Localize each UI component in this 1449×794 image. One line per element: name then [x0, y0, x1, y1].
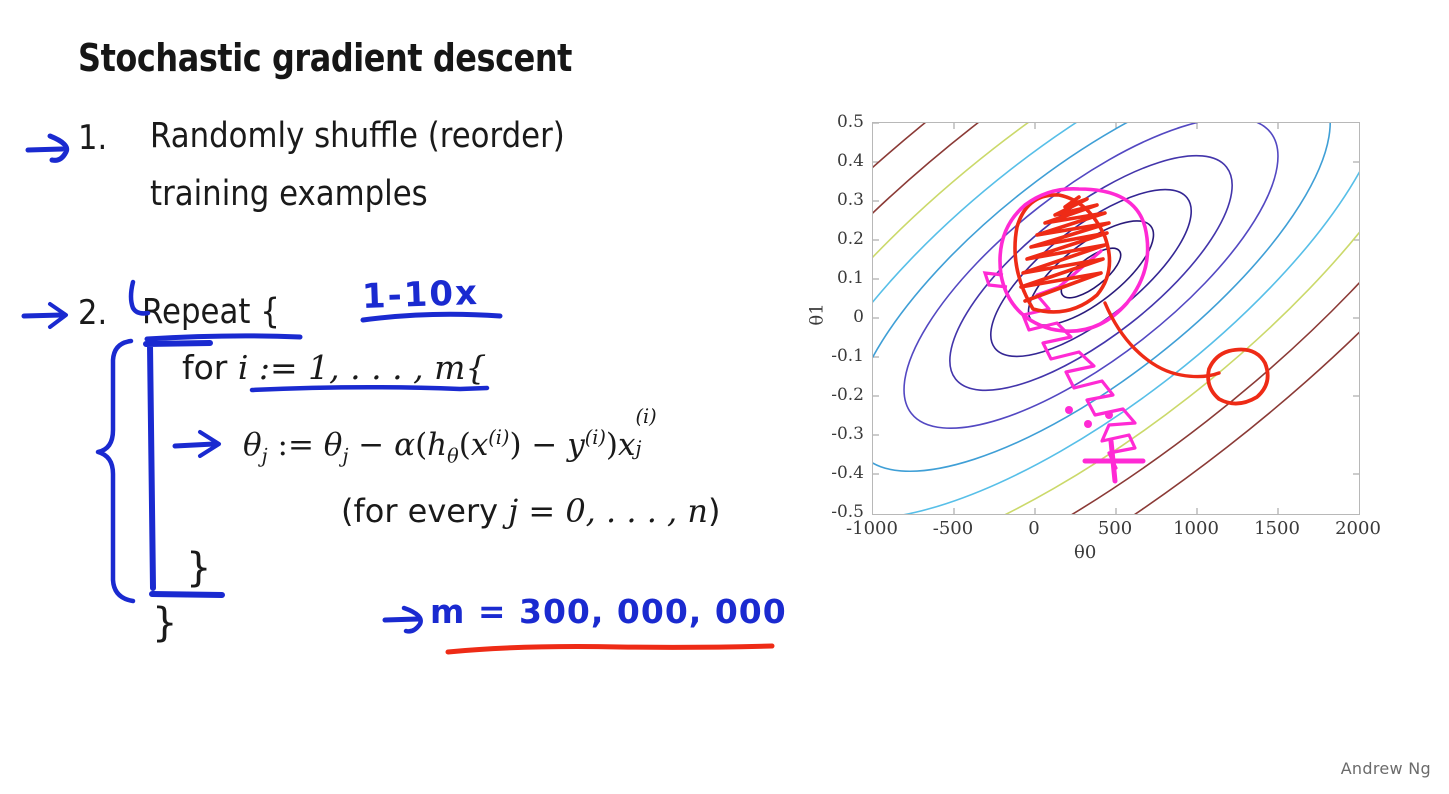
for-keyword: for — [182, 348, 227, 387]
assign-operator: := — [278, 427, 314, 463]
step-2-number: 2. — [78, 293, 107, 333]
subscript-j: j — [262, 444, 268, 467]
contour-ellipses — [873, 123, 1359, 514]
contour-svg — [873, 123, 1359, 514]
x-symbol-2: x — [618, 427, 635, 463]
y-tick-label: 0.4 — [806, 151, 864, 171]
x-axis-label: θ0 — [1074, 542, 1096, 563]
big-curly-brace — [98, 341, 133, 601]
y-tick-label: 0.2 — [806, 229, 864, 249]
contour-plot-figure: 0.5 0.4 0.3 0.2 0.1 0 -0.1 -0.2 -0.3 -0.… — [804, 108, 1384, 570]
outer-closing-brace: } — [152, 600, 177, 646]
underline-m-value — [448, 646, 772, 652]
y-tick-label: 0.5 — [806, 112, 864, 132]
y-tick-label: -0.2 — [806, 385, 864, 405]
y-symbol: y — [567, 427, 585, 463]
y-tick-label: -0.1 — [806, 346, 864, 366]
contour-level-7 — [873, 123, 1359, 514]
x-tick-label: 500 — [1075, 518, 1155, 539]
red-trail-path — [1105, 303, 1219, 377]
theta-symbol: θ — [243, 427, 262, 463]
x-tick-label: -1000 — [832, 518, 912, 539]
footer-credit: Andrew Ng — [1341, 759, 1431, 778]
alpha-symbol: α — [394, 427, 415, 463]
close-paren-1: ) — [509, 427, 521, 463]
x-sub-j-sup-i: (i)j — [636, 417, 657, 455]
x-superscript-i: (i) — [488, 426, 509, 449]
step-1-number: 1. — [78, 118, 107, 158]
for-every-suffix: ) — [708, 492, 720, 530]
axis-ticks — [873, 123, 1359, 514]
theta-symbol-2: θ — [324, 427, 343, 463]
y-axis-label: θ1 — [807, 303, 828, 325]
annotation-repeat-count: 1-10x — [361, 273, 479, 317]
open-paren-1: ( — [415, 427, 427, 463]
y-tick-label: -0.3 — [806, 424, 864, 444]
for-loop-range: i := 1, . . . , m{ — [238, 348, 486, 387]
for-loop-line: for i := 1, . . . , m{ — [182, 348, 486, 387]
x-tick-label: 2000 — [1318, 518, 1398, 539]
for-every-j-line: (for every j = 0, . . . , n) — [341, 492, 720, 530]
hypothesis-h: h — [427, 427, 447, 463]
arrow-icon-step-1 — [28, 136, 67, 160]
close-paren-2: ) — [606, 427, 618, 463]
arrow-icon-update-rule — [175, 432, 219, 456]
slide-canvas: Stochastic gradient descent 1. Randomly … — [0, 0, 1449, 794]
plot-area — [872, 122, 1360, 515]
h-subscript-theta: θ — [447, 444, 459, 467]
arrow-icon-step-2 — [24, 304, 66, 327]
arrow-icon-m-value — [385, 608, 421, 631]
underline-repeat — [147, 336, 300, 339]
trajectory-dots — [1065, 406, 1113, 428]
step-1-line-2: training examples — [150, 174, 428, 214]
contour-level-10 — [873, 123, 1359, 514]
x-tick-label: -500 — [913, 518, 993, 539]
theta-update-equation: θj := θj − α(hθ(x(i)) − y(i))x(i)j — [243, 420, 657, 467]
minus-operator-2: − — [531, 427, 557, 463]
for-every-range: j = 0, . . . , n — [508, 492, 708, 530]
x-symbol: x — [471, 427, 488, 463]
contour-level-8 — [873, 123, 1359, 514]
y-tick-label: 0.3 — [806, 190, 864, 210]
inner-closing-brace: } — [186, 545, 211, 591]
underline-for-range — [252, 387, 487, 390]
y-superscript-i: (i) — [585, 426, 606, 449]
x-superscript-i-2: (i) — [636, 407, 657, 426]
subscript-j-2: j — [342, 444, 348, 467]
x-tick-label: 0 — [994, 518, 1074, 539]
step-1-line-1: Randomly shuffle (reorder) — [150, 116, 565, 156]
step-2-repeat-label: Repeat { — [142, 292, 280, 332]
contour-level-9 — [873, 123, 1359, 514]
for-every-prefix: (for every — [341, 492, 498, 530]
x-tick-label: 1000 — [1156, 518, 1236, 539]
y-tick-label: -0.4 — [806, 463, 864, 483]
page-title: Stochastic gradient descent — [78, 36, 572, 80]
contour-level-6 — [873, 123, 1359, 514]
contour-level-5 — [873, 123, 1322, 480]
open-paren-2: ( — [459, 427, 471, 463]
minus-operator: − — [358, 427, 384, 463]
x-subscript-j: j — [636, 439, 657, 458]
x-tick-label: 1500 — [1237, 518, 1317, 539]
annotation-m-value: m = 300, 000, 000 — [430, 592, 787, 631]
y-tick-label: 0.1 — [806, 268, 864, 288]
